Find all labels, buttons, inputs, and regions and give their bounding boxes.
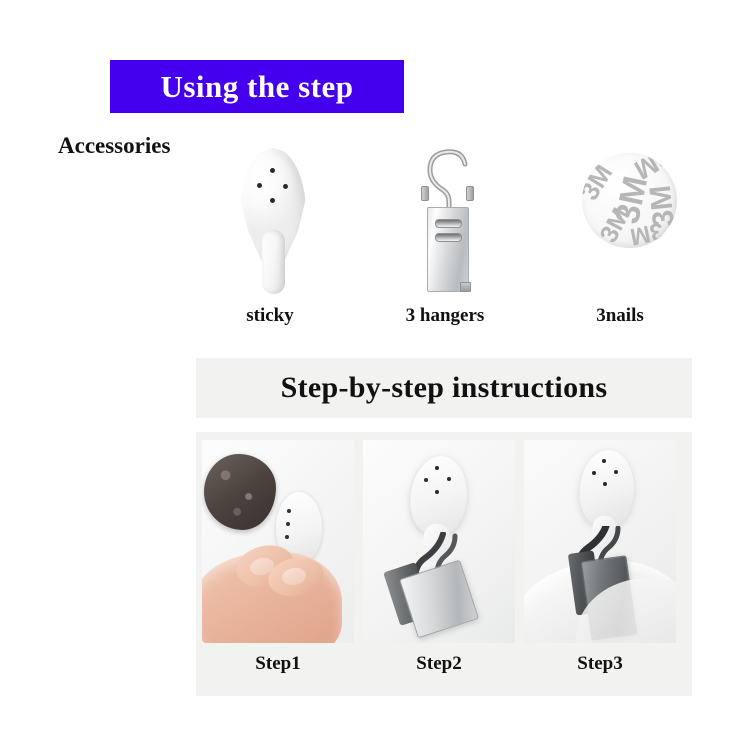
brand-mark-3m: 3M xyxy=(628,218,666,248)
hanger-clip-illustration xyxy=(370,140,520,300)
clip-slot-lower xyxy=(435,233,462,242)
instructions-heading-band: Step-by-step instructions xyxy=(196,358,692,418)
brand-mark-3m: 3M xyxy=(582,160,617,204)
hook-hole xyxy=(603,482,607,486)
accessory-item-sticky: sticky xyxy=(195,140,345,340)
clip-foot xyxy=(460,282,471,292)
hook-hole xyxy=(614,470,618,474)
hand-pressing-hook-on-wall-photo xyxy=(202,440,354,643)
hook-hole-left xyxy=(257,183,262,188)
hook-hole-bottom xyxy=(270,198,275,203)
peel-backing-object xyxy=(204,454,276,530)
hanger-wire-hook-icon xyxy=(408,144,484,214)
hook-hole xyxy=(287,509,291,513)
clip-tab-left xyxy=(421,186,429,201)
accessory-caption-hangers: 3 hangers xyxy=(370,305,520,327)
step-item-3: Step3 xyxy=(524,440,676,690)
hook-hole xyxy=(447,477,451,481)
accessory-item-nails: 3M 3M 3M 3M 3M 3M 3nails xyxy=(545,140,695,340)
clip-attached-to-hook-photo xyxy=(363,440,515,643)
hook-hole xyxy=(602,459,606,463)
step-caption-2: Step2 xyxy=(363,653,515,675)
clip-body xyxy=(427,207,469,292)
step-caption-3: Step3 xyxy=(524,653,676,675)
white-adhesive-hook-icon xyxy=(240,148,306,298)
instructions-heading: Step-by-step instructions xyxy=(281,371,608,405)
hook-hole xyxy=(285,535,289,539)
adhesive-pad-disc: 3M 3M 3M 3M 3M 3M xyxy=(582,153,677,248)
accessory-caption-sticky: sticky xyxy=(195,305,345,327)
hook-hole xyxy=(435,490,439,494)
hook-hole-right xyxy=(283,184,288,189)
clip-slot-upper xyxy=(435,219,462,228)
page-title: Using the step xyxy=(160,71,353,102)
adhesive-pad-illustration: 3M 3M 3M 3M 3M 3M xyxy=(545,140,695,300)
accessory-caption-nails: 3nails xyxy=(545,305,695,327)
metal-hanger-clip-icon xyxy=(408,144,484,299)
page-title-banner: Using the step xyxy=(110,60,404,113)
instructions-steps-panel: Step1 Step2 xyxy=(196,432,692,696)
step-item-2: Step2 xyxy=(363,440,515,690)
hook-hole xyxy=(286,522,290,526)
hook-nub xyxy=(262,230,285,294)
hook-hole xyxy=(435,466,439,470)
accessory-item-hangers: 3 hangers xyxy=(370,140,520,340)
accessories-row: sticky 3 hangers xyxy=(195,140,695,340)
hook-hole xyxy=(424,478,428,482)
step-item-1: Step1 xyxy=(202,440,354,690)
clip-tab-right xyxy=(466,186,474,201)
adhesive-pad-3m-icon: 3M 3M 3M 3M 3M 3M xyxy=(582,153,677,248)
sticky-hook-illustration xyxy=(195,140,345,300)
hook-hole xyxy=(592,471,596,475)
step-caption-1: Step1 xyxy=(202,653,354,675)
clip-gripping-cloth-photo xyxy=(524,440,676,643)
accessories-section-label: Accessories xyxy=(58,133,170,159)
hook-hole-top xyxy=(270,168,275,173)
